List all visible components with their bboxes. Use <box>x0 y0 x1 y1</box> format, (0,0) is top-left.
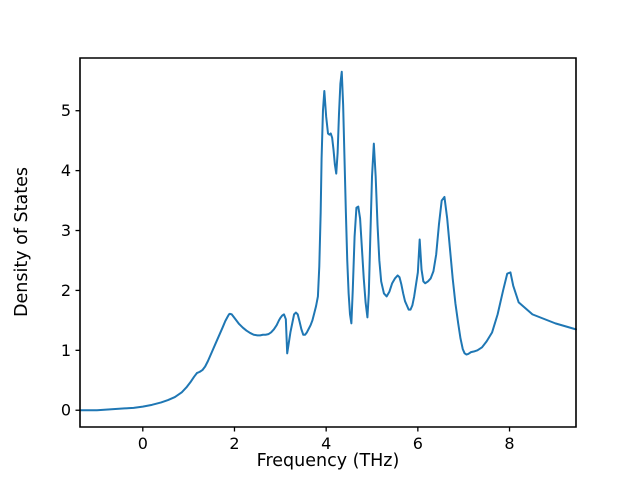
x-tick-label: 2 <box>229 434 239 453</box>
y-tick-label: 5 <box>61 101 71 120</box>
y-axis-label: Density of States <box>12 167 32 317</box>
figure-canvas: 02468 012345 Frequency (THz) Density of … <box>0 0 640 480</box>
y-tick-label: 2 <box>61 281 71 300</box>
y-tick-label: 4 <box>61 161 71 180</box>
plot-background <box>80 58 576 427</box>
y-tick-label: 0 <box>61 401 71 420</box>
x-tick-label: 8 <box>504 434 514 453</box>
x-axis-label: Frequency (THz) <box>257 451 400 471</box>
dos-plot: 02468 012345 Frequency (THz) Density of … <box>0 0 640 480</box>
x-tick-label: 0 <box>138 434 148 453</box>
y-axis-ticks: 012345 <box>61 101 80 420</box>
y-tick-label: 3 <box>61 221 71 240</box>
y-tick-label: 1 <box>61 341 71 360</box>
x-tick-label: 6 <box>413 434 423 453</box>
x-axis-ticks: 02468 <box>138 427 515 453</box>
